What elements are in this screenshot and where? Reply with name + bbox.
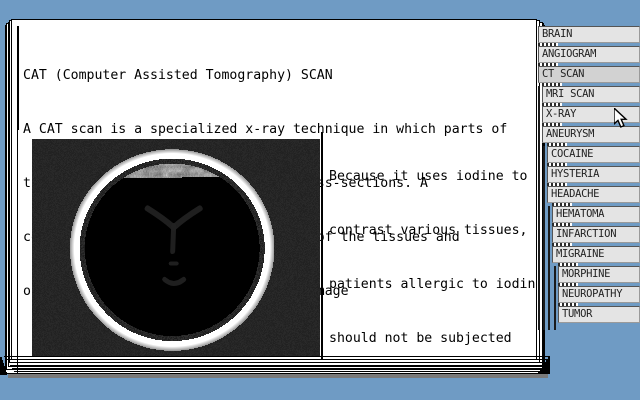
menu-item-mri-scan[interactable]: MRI SCAN: [542, 86, 640, 103]
menu-item-label: ANEURYSM: [546, 128, 594, 140]
menu-item-cocaine[interactable]: COCAINE: [547, 146, 640, 163]
page-edge-left: [5, 372, 7, 375]
menu-item-hematoma[interactable]: HEMATOMA: [552, 206, 640, 223]
menu-item-brain[interactable]: BRAIN: [538, 26, 640, 43]
page-edge: [14, 371, 538, 372]
side-note-line-3: patients allergic to iodine: [329, 276, 536, 294]
menu-item-label: MRI SCAN: [546, 88, 594, 100]
menu-item-headache[interactable]: HEADACHE: [547, 186, 640, 203]
page-title: CAT (Computer Assisted Tomography) SCAN: [23, 67, 528, 85]
menu-item-label: NEUROPATHY: [562, 288, 622, 300]
page-edge: [8, 362, 544, 363]
menu-item-ct-scan[interactable]: CT SCAN: [538, 66, 640, 83]
menu-item-neuropathy[interactable]: NEUROPATHY: [558, 286, 640, 303]
stack-spine: [17, 26, 18, 374]
stack-shadow: [8, 374, 548, 378]
menu-item-migraine[interactable]: MIGRAINE: [552, 246, 640, 263]
menu-item-label: ANGIOGRAM: [542, 48, 596, 60]
page-edge-right: [542, 365, 544, 374]
menu-item-aneurysm[interactable]: ANEURYSM: [542, 126, 640, 143]
ct-brain-scan: [32, 139, 320, 356]
page-edge-right: [548, 356, 550, 374]
menu-item-infarction[interactable]: INFARCTION: [552, 226, 640, 243]
menu-item-label: INFARCTION: [556, 228, 616, 240]
side-note-line-1: Because it uses iodine to: [329, 168, 536, 186]
menu-item-label: HEMATOMA: [556, 208, 604, 220]
menu-item-label: TUMOR: [562, 308, 592, 320]
menu-item-angiogram[interactable]: ANGIOGRAM: [538, 46, 640, 63]
page-edge: [6, 359, 546, 360]
content-card: CAT (Computer Assisted Tomography) SCAN …: [11, 19, 537, 360]
menu-rail: [548, 206, 550, 330]
ct-scan-canvas: [32, 139, 320, 356]
menu-item-x-ray[interactable]: X-RAY: [542, 106, 640, 123]
page-edge: [4, 356, 548, 357]
side-note-text: Because it uses iodine to contrast vario…: [321, 132, 536, 360]
menu-item-tumor[interactable]: TUMOR: [558, 306, 640, 323]
menu-item-label: COCAINE: [551, 148, 593, 160]
menu-item-label: HEADACHE: [551, 188, 599, 200]
page-edge-right: [544, 362, 546, 374]
menu-rail: [554, 266, 556, 330]
page-edge-right: [546, 359, 548, 374]
page-edge: [10, 365, 542, 366]
menu-item-label: X-RAY: [546, 108, 576, 120]
menu-item-morphine[interactable]: MORPHINE: [558, 266, 640, 283]
menu-item-label: CT SCAN: [542, 68, 584, 80]
menu-item-label: MORPHINE: [562, 268, 610, 280]
page-edge: [12, 368, 540, 369]
side-note-line-4: should not be subjected: [329, 330, 536, 348]
menu-item-hysteria[interactable]: HYSTERIA: [547, 166, 640, 183]
app-screen: CAT (Computer Assisted Tomography) SCAN …: [0, 0, 640, 400]
topic-index-menu[interactable]: BRAINANGIOGRAMCT SCANMRI SCANX-RAYANEURY…: [538, 26, 640, 336]
menu-rail: [543, 146, 545, 330]
menu-item-label: MIGRAINE: [556, 248, 604, 260]
menu-item-label: HYSTERIA: [551, 168, 599, 180]
menu-item-label: BRAIN: [542, 28, 572, 40]
page-stack-edges: [0, 356, 560, 386]
menu-rail: [538, 86, 540, 330]
side-note-line-2: contrast various tissues,: [329, 222, 536, 240]
